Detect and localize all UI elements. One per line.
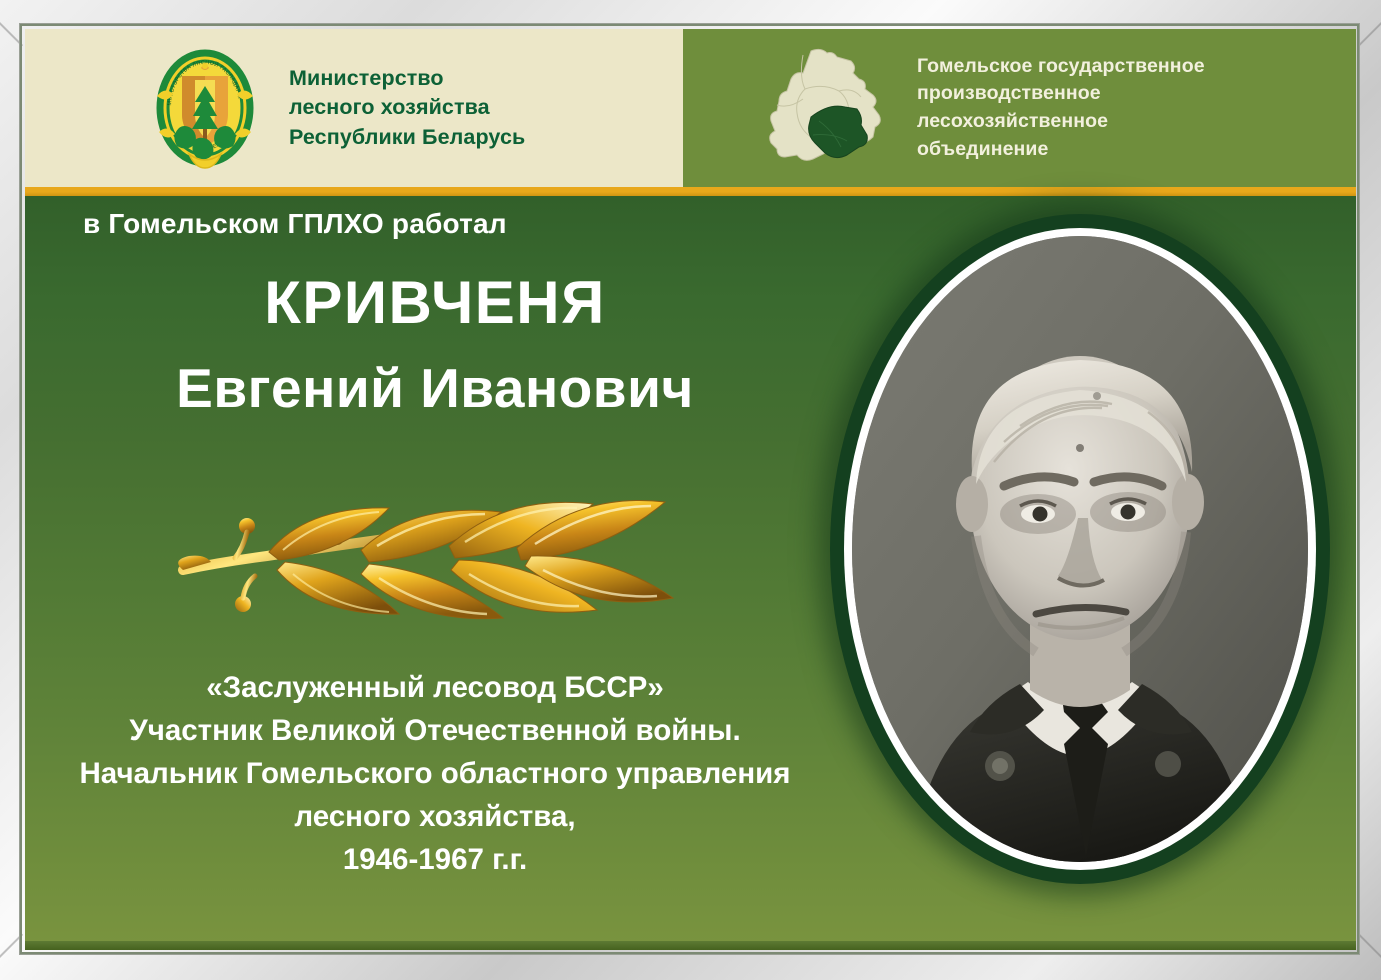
memorial-plaque: МІНІСТЭРСТВА ЛЯСНОЙ ГАСПАДАРКІ РЭСПУБЛІК… [0, 0, 1381, 980]
plaque-body: в Гомельском ГПЛХО работал КРИВЧЕНЯ Евге… [25, 196, 1356, 950]
ministry-title: Министерство лесного хозяйства Республик… [289, 64, 525, 153]
portrait-photograph [852, 236, 1308, 862]
association-title-line-4: объединение [917, 136, 1205, 164]
association-title-line-2: производственное [917, 80, 1205, 108]
belarus-forestry-ministry-emblem-icon: МІНІСТЭРСТВА ЛЯСНОЙ ГАСПАДАРКІ РЭСПУБЛІК… [149, 46, 261, 170]
ministry-title-line-2: лесного хозяйства [289, 93, 525, 123]
association-title-line-3: лесохозяйственное [917, 108, 1205, 136]
frame-mitre-top-right [1358, 14, 1381, 47]
association-title: Гомельское государственное производствен… [917, 53, 1205, 164]
description-line-2: Участник Великой Отечественной войны. [25, 709, 845, 752]
plaque-text-column: в Гомельском ГПЛХО работал КРИВЧЕНЯ Евге… [25, 196, 845, 950]
ministry-title-line-1: Министерство [289, 64, 525, 94]
ministry-title-line-3: Республики Беларусь [289, 123, 525, 153]
plaque-board: МІНІСТЭРСТВА ЛЯСНОЙ ГАСПАДАРКІ РЭСПУБЛІК… [25, 29, 1356, 950]
frame-mitre-bottom-left [0, 933, 23, 966]
header-association-block: Гомельское государственное производствен… [683, 29, 1356, 187]
frame-mitre-top-left [0, 14, 23, 47]
association-title-line-1: Гомельское государственное [917, 53, 1205, 81]
person-description: «Заслуженный лесовод БССР» Участник Вели… [25, 666, 845, 881]
gold-divider [25, 187, 1356, 196]
person-given-name: Евгений Иванович [25, 356, 845, 420]
description-line-4: лесного хозяйства, [25, 795, 845, 838]
board-bottom-edge [25, 941, 1356, 950]
portrait [830, 214, 1330, 884]
belarus-map-gomel-region-icon [759, 45, 887, 171]
description-line-3: Начальник Гомельского областного управле… [25, 752, 845, 795]
description-line-5: 1946-1967 г.г. [25, 838, 845, 881]
person-surname: КРИВЧЕНЯ [25, 268, 845, 337]
frame-mitre-bottom-right [1358, 933, 1381, 966]
golden-laurel-branch-icon [165, 474, 685, 664]
plaque-header: МІНІСТЭРСТВА ЛЯСНОЙ ГАСПАДАРКІ РЭСПУБЛІК… [25, 29, 1356, 187]
kicker-text: в Гомельском ГПЛХО работал [83, 208, 783, 240]
description-line-1: «Заслуженный лесовод БССР» [25, 666, 845, 709]
header-ministry-block: МІНІСТЭРСТВА ЛЯСНОЙ ГАСПАДАРКІ РЭСПУБЛІК… [25, 29, 683, 187]
